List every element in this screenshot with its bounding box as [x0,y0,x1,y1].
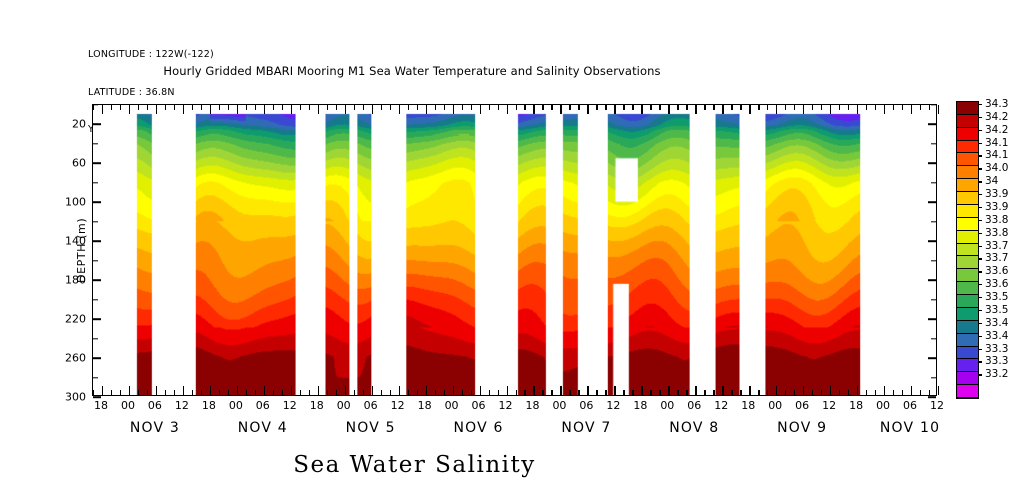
colorbar-label: 33.5 [985,304,1008,316]
x-tick-mark [408,105,409,110]
x-hour-label: 06 [687,399,701,412]
x-tick-mark [758,390,759,395]
x-tick-mark [120,105,121,110]
colorbar-swatch [957,244,978,257]
x-tick-mark [668,105,669,114]
x-hour-label: 06 [364,399,378,412]
x-tick-mark [453,105,454,114]
x-tick-mark [893,105,894,110]
x-tick-mark [929,105,930,110]
y-tick-mark [928,396,936,398]
x-tick-mark [587,105,588,114]
x-hour-label: 12 [930,399,944,412]
chart-title: Hourly Gridded MBARI Mooring M1 Sea Wate… [0,64,1009,78]
x-tick-mark [408,390,409,395]
x-tick-mark [471,390,472,395]
x-tick-mark [102,105,103,114]
x-tick-mark [111,105,112,110]
x-tick-mark [920,390,921,395]
x-tick-mark [722,386,723,395]
x-tick-mark [731,105,732,110]
x-tick-mark [848,105,849,110]
x-hour-label: 00 [445,399,459,412]
colorbar-swatch [957,192,978,205]
x-tick-mark [138,390,139,395]
x-tick-mark [489,105,490,110]
y-tick-mark [928,202,936,204]
x-tick-mark [129,386,130,395]
x-tick-mark [363,105,364,110]
x-tick-mark [839,105,840,110]
x-tick-mark [282,105,283,110]
y-tick-mark [93,357,101,359]
x-tick-mark [731,390,732,395]
x-hour-label: 12 [714,399,728,412]
y-tick-label: 100 [65,196,86,209]
x-tick-mark [560,386,561,395]
y-tick-mark [928,279,936,281]
y-tick-mark [928,357,936,359]
x-tick-mark [183,386,184,395]
x-tick-mark [830,105,831,114]
x-tick-mark [569,105,570,110]
colorbar-swatch [957,269,978,282]
x-tick-mark [551,105,552,110]
x-tick-mark [255,105,256,110]
x-tick-mark [417,390,418,395]
x-tick-mark [417,105,418,110]
x-tick-mark [462,390,463,395]
x-tick-mark [327,105,328,110]
colorbar-swatch [957,153,978,166]
y-tick-mark [93,279,101,281]
x-hour-label: 00 [121,399,135,412]
y-tick-minor [93,143,98,144]
x-tick-mark [632,390,633,395]
x-tick-mark [372,105,373,114]
y-tick-label: 300 [65,391,86,404]
x-tick-mark [129,105,130,114]
colorbar-swatch [957,295,978,308]
x-hour-label: 12 [499,399,513,412]
colorbar-label: 33.7 [985,252,1008,264]
x-hour-label: 18 [94,399,108,412]
x-tick-mark [785,105,786,110]
x-tick-mark [165,105,166,110]
x-tick-mark [237,105,238,114]
x-tick-mark [219,390,220,395]
x-hour-label: 18 [633,399,647,412]
x-tick-mark [354,390,355,395]
x-tick-mark [453,386,454,395]
colorbar-swatch [957,205,978,218]
y-tick-mark [93,396,101,398]
x-tick-mark [686,105,687,110]
x-tick-mark [327,390,328,395]
colorbar: 34.334.2534.234.1534.134.053433.9533.933… [956,101,979,399]
x-hour-label: 00 [768,399,782,412]
x-tick-mark [138,105,139,110]
y-tick-label: 180 [65,274,86,287]
x-tick-mark [785,390,786,395]
x-hour-label: 00 [552,399,566,412]
x-hour-label: 12 [822,399,836,412]
x-tick-mark [758,105,759,110]
colorbar-swatch [957,141,978,154]
y-tick-label: 260 [65,352,86,365]
colorbar-tick [978,323,982,324]
x-tick-mark [650,105,651,110]
y-tick-minor [93,338,98,339]
x-tick-mark [695,386,696,395]
x-tick-mark [165,390,166,395]
colorbar-swatch [957,115,978,128]
x-tick-mark [237,386,238,395]
x-tick-mark [246,105,247,110]
x-tick-mark [839,390,840,395]
x-tick-mark [650,390,651,395]
colorbar-swatch [957,372,978,385]
x-tick-mark [102,386,103,395]
x-tick-mark [336,390,337,395]
y-tick-mark [928,124,936,126]
colorbar-label: 34.15 [985,137,1009,149]
x-tick-mark [542,390,543,395]
x-tick-mark [605,390,606,395]
colorbar-label: 34.1 [985,149,1008,161]
colorbar-tick [978,374,982,375]
x-tick-mark [246,390,247,395]
x-hour-label: 18 [525,399,539,412]
colorbar-tick [978,336,982,337]
colorbar-swatch [957,179,978,192]
colorbar-swatch [957,102,978,115]
x-hour-label: 18 [310,399,324,412]
y-tick-minor [93,299,98,300]
x-tick-mark [228,105,229,110]
x-tick-mark [722,105,723,114]
colorbar-swatch [957,166,978,179]
x-tick-mark [875,390,876,395]
x-tick-mark [641,105,642,114]
x-tick-mark [884,105,885,114]
x-hour-label: 06 [472,399,486,412]
x-day-label: NOV 6 [453,420,503,436]
plot-area: DEPTH (m) 2060100140180220260300 [92,104,937,396]
x-tick-mark [363,390,364,395]
colorbar-tick [978,284,982,285]
colorbar-tick [978,361,982,362]
x-hour-label: 06 [148,399,162,412]
x-tick-mark [291,105,292,114]
x-tick-mark [399,386,400,395]
x-tick-mark [938,386,939,395]
x-day-label: NOV 5 [346,420,396,436]
x-tick-mark [471,105,472,110]
y-tick-minor [931,221,936,222]
colorbar-tick [978,349,982,350]
x-hour-label: 00 [876,399,890,412]
colorbar-tick [978,130,982,131]
x-tick-mark [893,390,894,395]
y-tick-minor [931,104,936,105]
chart-figure: LONGITUDE : 122W(-122) LATITUDE : 36.8N … [0,0,1009,504]
x-tick-mark [192,390,193,395]
x-tick-mark [749,105,750,114]
x-tick-mark [498,105,499,110]
x-hour-label: 12 [606,399,620,412]
x-tick-mark [480,105,481,114]
x-tick-mark [668,386,669,395]
x-tick-mark [201,390,202,395]
x-tick-mark [767,105,768,110]
x-day-label: NOV 4 [238,420,288,436]
x-day-label: NOV 7 [561,420,611,436]
x-tick-mark [174,105,175,110]
x-tick-mark [210,386,211,395]
x-tick-mark [587,386,588,395]
y-tick-minor [93,182,98,183]
x-tick-mark [884,386,885,395]
x-tick-mark [147,105,148,110]
x-day-label: NOV 10 [880,420,940,436]
x-tick-mark [183,105,184,114]
x-tick-mark [93,390,94,395]
x-hour-label: 06 [256,399,270,412]
x-tick-mark [740,390,741,395]
x-tick-mark [345,105,346,114]
colorbar-label: 34 [985,175,998,187]
x-hour-label: 00 [337,399,351,412]
x-tick-mark [560,105,561,114]
x-tick-mark [623,105,624,110]
colorbar-label: 33.4 [985,330,1008,342]
x-tick-mark [192,105,193,110]
x-tick-mark [767,390,768,395]
x-tick-mark [516,105,517,110]
x-tick-mark [857,386,858,395]
x-tick-mark [201,105,202,110]
x-tick-mark [686,390,687,395]
x-hour-label: 06 [795,399,809,412]
colorbar-label: 33.55 [985,291,1009,303]
x-tick-mark [300,105,301,110]
y-tick-minor [931,143,936,144]
x-tick-mark [911,105,912,114]
x-tick-mark [857,105,858,114]
x-tick-mark [93,105,94,110]
x-tick-mark [659,390,660,395]
x-tick-mark [740,105,741,110]
x-tick-mark [704,390,705,395]
x-tick-mark [318,105,319,114]
colorbar-tick [978,194,982,195]
colorbar-tick [978,297,982,298]
x-tick-mark [713,105,714,110]
x-tick-mark [938,105,939,114]
x-tick-mark [480,386,481,395]
y-tick-minor [93,260,98,261]
colorbar-swatch [957,218,978,231]
x-tick-mark [704,105,705,110]
x-tick-mark [632,105,633,110]
x-tick-mark [533,386,534,395]
x-tick-mark [273,390,274,395]
colorbar-swatch [957,256,978,269]
x-hour-label: 00 [229,399,243,412]
colorbar-swatch [957,321,978,334]
colorbar-swatch [957,282,978,295]
x-tick-mark [812,390,813,395]
colorbar-label: 33.6 [985,278,1008,290]
x-tick-mark [902,105,903,110]
x-tick-mark [300,390,301,395]
y-tick-label: 20 [72,118,86,131]
x-hour-label: 12 [283,399,297,412]
colorbar-tick [978,271,982,272]
x-day-label: NOV 8 [669,420,719,436]
y-tick-minor [931,260,936,261]
x-day-label: NOV 9 [777,420,827,436]
x-tick-mark [264,386,265,395]
x-tick-mark [174,390,175,395]
x-tick-mark [578,105,579,110]
x-tick-mark [551,390,552,395]
variable-title: Sea Water Salinity [0,452,1009,478]
x-tick-mark [111,390,112,395]
colorbar-tick [978,258,982,259]
x-tick-mark [821,105,822,110]
y-tick-minor [93,377,98,378]
colorbar-tick [978,310,982,311]
x-tick-mark [848,390,849,395]
x-day-label: NOV 3 [130,420,180,436]
x-hour-label: 06 [579,399,593,412]
colorbar-label: 33.85 [985,214,1009,226]
x-tick-mark [542,105,543,110]
x-tick-mark [695,105,696,114]
x-hour-label: 00 [660,399,674,412]
x-tick-mark [354,105,355,110]
x-tick-mark [776,105,777,114]
x-hour-label: 06 [903,399,917,412]
colorbar-swatch [957,347,978,360]
y-tick-minor [931,299,936,300]
colorbar-tick [978,143,982,144]
x-tick-mark [866,390,867,395]
y-tick-minor [931,182,936,183]
colorbar-tick [978,168,982,169]
x-tick-mark [435,390,436,395]
x-tick-mark [264,105,265,114]
y-tick-mark [93,202,101,204]
y-tick-mark [93,124,101,126]
colorbar-label: 33.65 [985,265,1009,277]
x-tick-mark [336,105,337,110]
x-tick-mark [533,105,534,114]
x-hour-label: 12 [391,399,405,412]
x-tick-mark [390,105,391,110]
x-tick-mark [435,105,436,110]
x-tick-mark [399,105,400,114]
x-tick-mark [929,390,930,395]
colorbar-tick [978,220,982,221]
colorbar-label: 33.8 [985,227,1008,239]
salinity-contour-canvas [93,105,936,395]
x-tick-mark [911,386,912,395]
x-hour-label: 18 [418,399,432,412]
x-tick-mark [677,105,678,110]
colorbar-tick [978,207,982,208]
colorbar-label: 33.45 [985,317,1009,329]
x-hour-label: 18 [741,399,755,412]
x-tick-mark [866,105,867,110]
x-tick-mark [641,386,642,395]
x-tick-mark [713,390,714,395]
x-tick-mark [372,386,373,395]
x-tick-mark [507,386,508,395]
colorbar-tick [978,104,982,105]
x-tick-mark [309,390,310,395]
y-tick-minor [931,377,936,378]
x-tick-mark [821,390,822,395]
colorbar-label: 34.05 [985,162,1009,174]
x-tick-mark [812,105,813,110]
x-tick-mark [156,386,157,395]
x-tick-mark [273,105,274,110]
y-tick-label: 140 [65,235,86,248]
x-tick-mark [623,390,624,395]
x-tick-mark [803,105,804,114]
x-tick-mark [578,390,579,395]
x-hour-label: 12 [175,399,189,412]
x-tick-mark [875,105,876,110]
x-tick-mark [156,105,157,114]
latitude-text: LATITUDE : 36.8N [88,87,214,100]
colorbar-label: 33.9 [985,201,1008,213]
x-tick-mark [749,386,750,395]
x-tick-mark [794,105,795,110]
y-tick-mark [928,318,936,320]
x-hour-label: 18 [849,399,863,412]
x-tick-mark [596,105,597,110]
y-tick-label: 220 [65,313,86,326]
y-tick-mark [928,163,936,165]
y-tick-minor [931,338,936,339]
x-tick-mark [605,105,606,110]
x-tick-mark [677,390,678,395]
x-tick-mark [147,390,148,395]
colorbar-label: 33.75 [985,240,1009,252]
x-tick-mark [920,105,921,110]
x-tick-mark [291,386,292,395]
x-tick-mark [228,390,229,395]
x-tick-mark [462,105,463,110]
y-tick-minor [93,221,98,222]
y-tick-mark [93,318,101,320]
colorbar-swatch [957,359,978,372]
x-tick-mark [444,105,445,110]
x-tick-mark [381,390,382,395]
x-tick-mark [902,390,903,395]
x-tick-mark [120,390,121,395]
x-tick-mark [444,390,445,395]
x-tick-mark [614,386,615,395]
colorbar-label: 33.25 [985,368,1009,380]
x-tick-mark [498,390,499,395]
colorbar-swatch [957,308,978,321]
x-tick-mark [282,390,283,395]
